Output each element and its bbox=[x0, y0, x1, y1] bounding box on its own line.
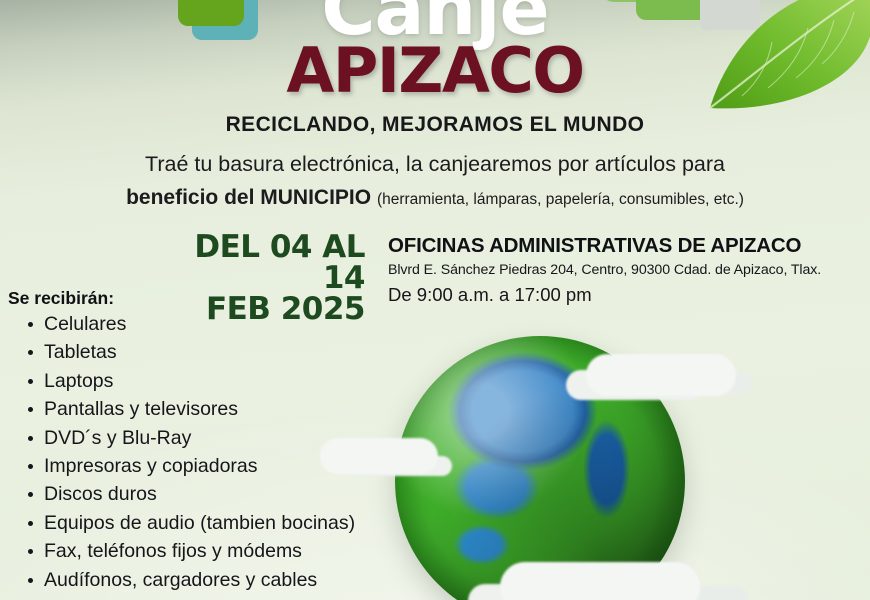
office-info: OFICINAS ADMINISTRATIVAS DE APIZACO Blvr… bbox=[388, 234, 821, 306]
poster-canvas: Canje APIZACO RECICLANDO, MEJORAMOS EL M… bbox=[0, 0, 870, 600]
earth-globe-icon bbox=[350, 318, 770, 600]
office-address: Blvrd E. Sánchez Piedras 204, Centro, 90… bbox=[388, 262, 821, 278]
list-item: Equipos de audio (tambien bocinas) bbox=[44, 509, 355, 537]
office-title: OFICINAS ADMINISTRATIVAS DE APIZACO bbox=[388, 234, 821, 258]
list-item: Pantallas y televisores bbox=[44, 395, 355, 423]
event-dates-line-1: DEL 04 AL 14 bbox=[150, 232, 365, 294]
intro-line-2-bold: beneficio del MUNICIPIO bbox=[126, 186, 371, 209]
office-hours: De 9:00 a.m. a 17:00 pm bbox=[388, 284, 821, 306]
list-item: Fax, teléfonos fijos y módems bbox=[44, 537, 355, 565]
intro-line-2: beneficio del MUNICIPIO (herramienta, lá… bbox=[0, 186, 870, 210]
cloud-icon-top bbox=[586, 354, 736, 396]
list-item: Tabletas bbox=[44, 338, 355, 366]
intro-line-1: Traé tu basura electrónica, la canjearem… bbox=[0, 152, 870, 177]
cloud-icon-bottom bbox=[500, 562, 700, 600]
list-item: Celulares bbox=[44, 310, 355, 338]
intro-line-2-small: (herramienta, lámparas, papelería, consu… bbox=[377, 191, 744, 208]
accepted-items-title: Se recibirán: bbox=[8, 288, 114, 309]
list-item: Discos duros bbox=[44, 480, 355, 508]
list-item: Bocinas y consolas bbox=[44, 594, 355, 600]
page-title: APIZACO bbox=[0, 34, 870, 107]
list-item: Impresoras y copiadoras bbox=[44, 452, 355, 480]
logo-block-green bbox=[178, 0, 244, 26]
cloud-icon-left bbox=[320, 438, 438, 474]
list-item: Laptops bbox=[44, 367, 355, 395]
list-item: Audífonos, cargadores y cables bbox=[44, 566, 355, 594]
list-item: DVD´s y Blu-Ray bbox=[44, 424, 355, 452]
accepted-items-list: CelularesTabletasLaptopsPantallas y tele… bbox=[22, 310, 355, 600]
tagline: RECICLANDO, MEJORAMOS EL MUNDO bbox=[0, 113, 870, 137]
logo-block-green-right bbox=[636, 0, 710, 20]
